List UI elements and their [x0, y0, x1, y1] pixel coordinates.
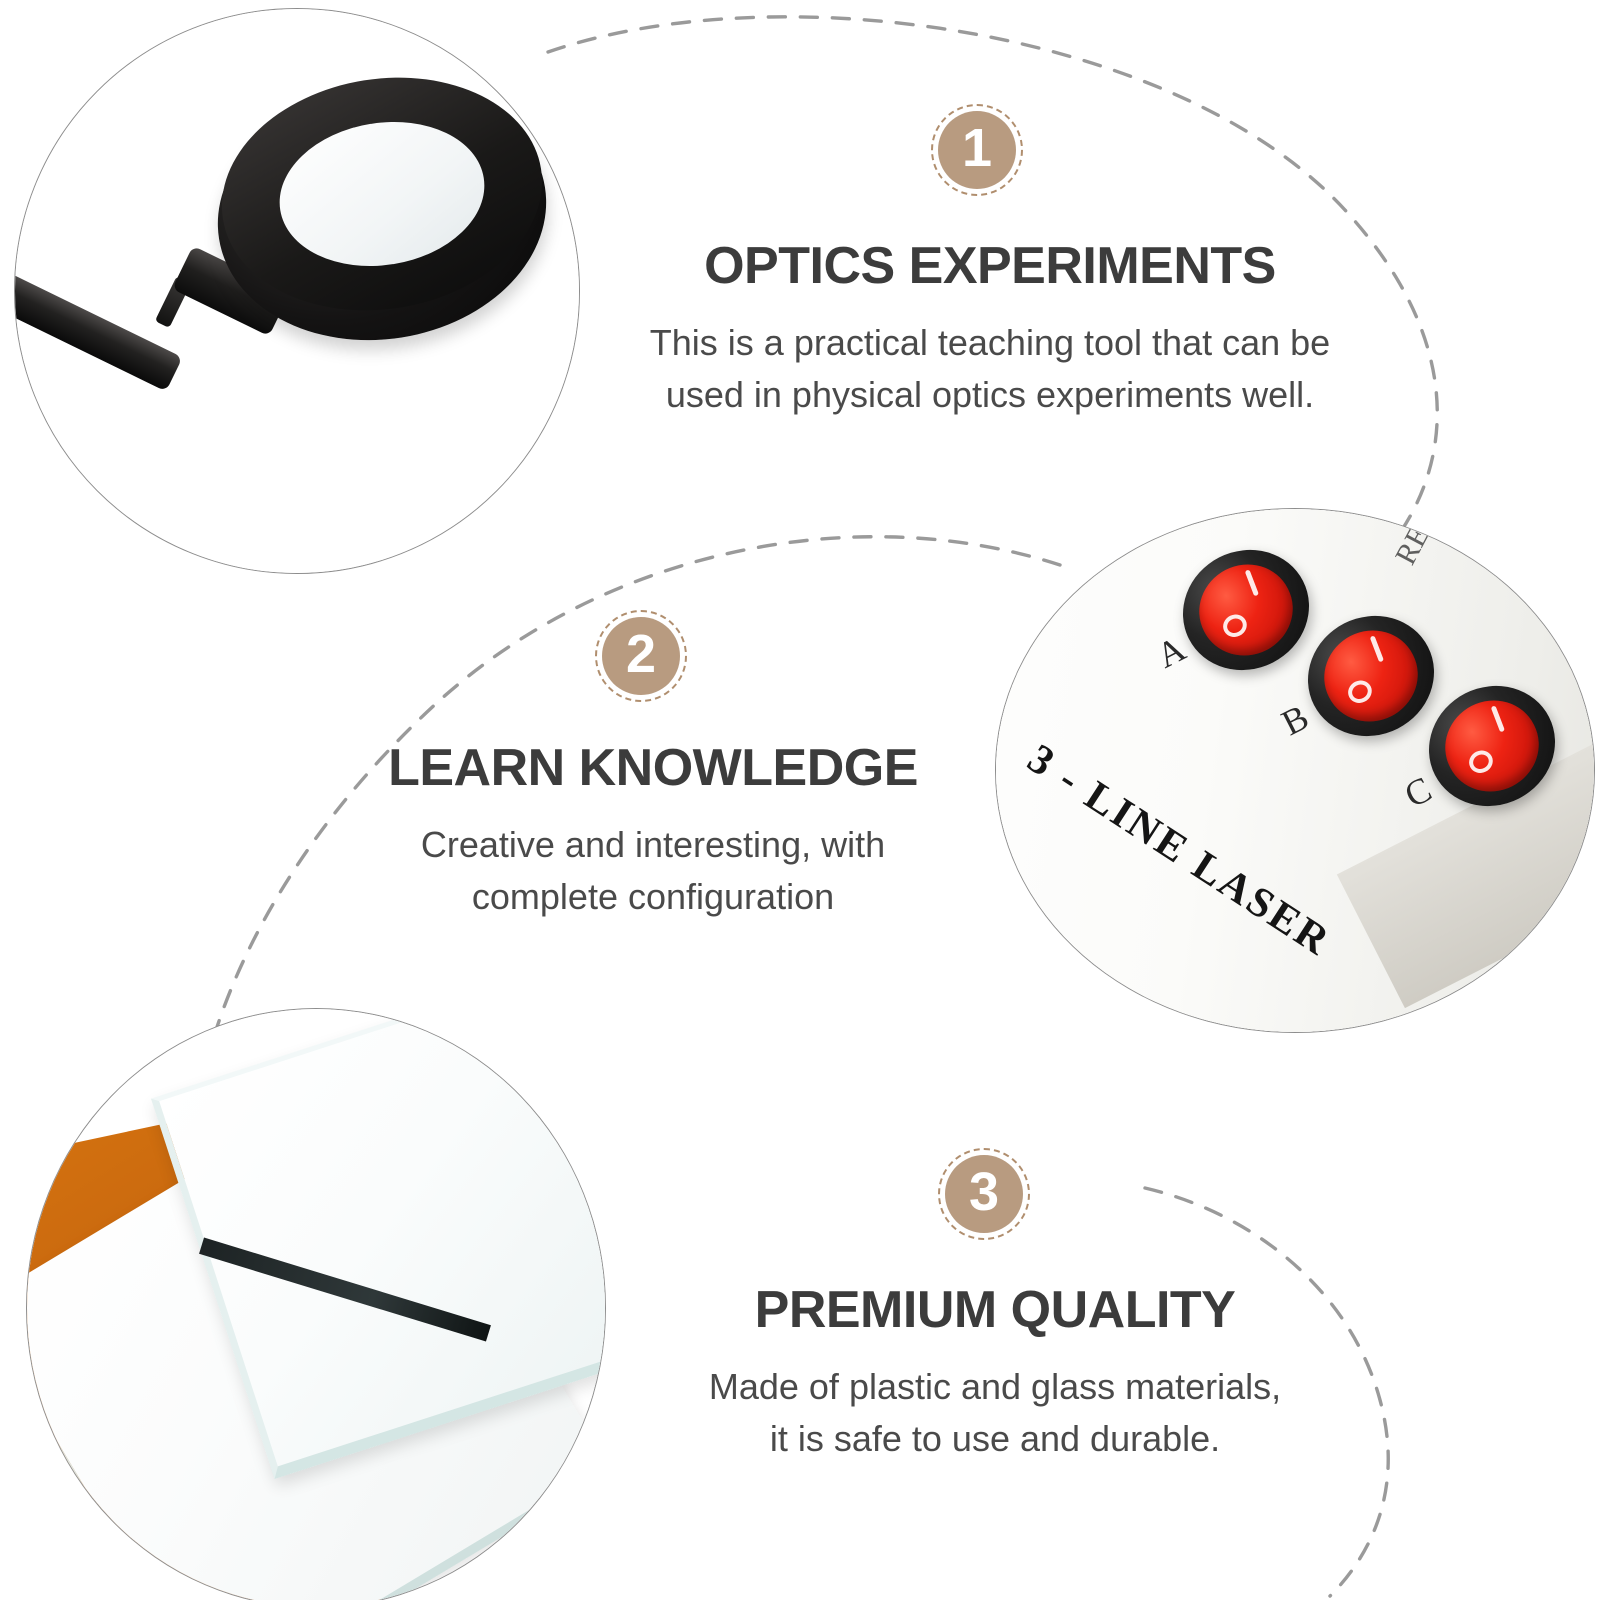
step-title-2: LEARN KNOWLEDGE [258, 740, 1048, 797]
switch-on-mark-icon [1370, 635, 1384, 662]
step-title-3: PREMIUM QUALITY [600, 1282, 1390, 1339]
step-text-block-2: LEARN KNOWLEDGE Creative and interesting… [258, 740, 1048, 924]
badge-number-2: 2 [626, 627, 656, 685]
infographic-page: A B C 3 - LINE LASER RED 1 2 3 [0, 0, 1600, 1600]
badge-number-3: 3 [969, 1165, 999, 1223]
badge-disc-1: 1 [938, 111, 1016, 189]
badge-disc-2: 2 [602, 617, 680, 695]
magnifier-artwork [15, 9, 579, 573]
switch-on-mark-icon [1245, 569, 1259, 596]
magnifier-handle-shape [14, 264, 183, 391]
step-badge-3: 3 [938, 1148, 1030, 1240]
step-description-3-line-1: Made of plastic and glass materials, [600, 1361, 1390, 1413]
step-description-3: Made of plastic and glass materials, it … [600, 1361, 1390, 1465]
badge-number-1: 1 [962, 121, 992, 179]
mirror-artwork [27, 1009, 605, 1600]
step-description-2-line-2: complete configuration [258, 871, 1048, 923]
step-badge-2: 2 [595, 610, 687, 702]
step-text-block-3: PREMIUM QUALITY Made of plastic and glas… [600, 1282, 1390, 1466]
product-photo-mirror-plates [26, 1008, 606, 1600]
laser-panel-artwork: A B C 3 - LINE LASER RED [996, 509, 1594, 1032]
step-description-3-line-2: it is safe to use and durable. [600, 1413, 1390, 1465]
step-title-1: OPTICS EXPERIMENTS [595, 238, 1385, 295]
product-photo-magnifier [14, 8, 580, 574]
switch-on-mark-icon [1491, 705, 1505, 732]
step-description-1: This is a practical teaching tool that c… [595, 317, 1385, 421]
switch-off-mark-icon [1344, 676, 1375, 706]
badge-disc-3: 3 [945, 1155, 1023, 1233]
step-description-2: Creative and interesting, with complete … [258, 819, 1048, 923]
product-photo-laser-panel: A B C 3 - LINE LASER RED [995, 508, 1595, 1033]
step-description-1-line-1: This is a practical teaching tool that c… [595, 317, 1385, 369]
switch-off-mark-icon [1465, 746, 1496, 776]
switch-off-mark-icon [1219, 610, 1250, 640]
step-badge-1: 1 [931, 104, 1023, 196]
step-description-2-line-1: Creative and interesting, with [258, 819, 1048, 871]
step-description-1-line-2: used in physical optics experiments well… [595, 369, 1385, 421]
step-text-block-1: OPTICS EXPERIMENTS This is a practical t… [595, 238, 1385, 422]
